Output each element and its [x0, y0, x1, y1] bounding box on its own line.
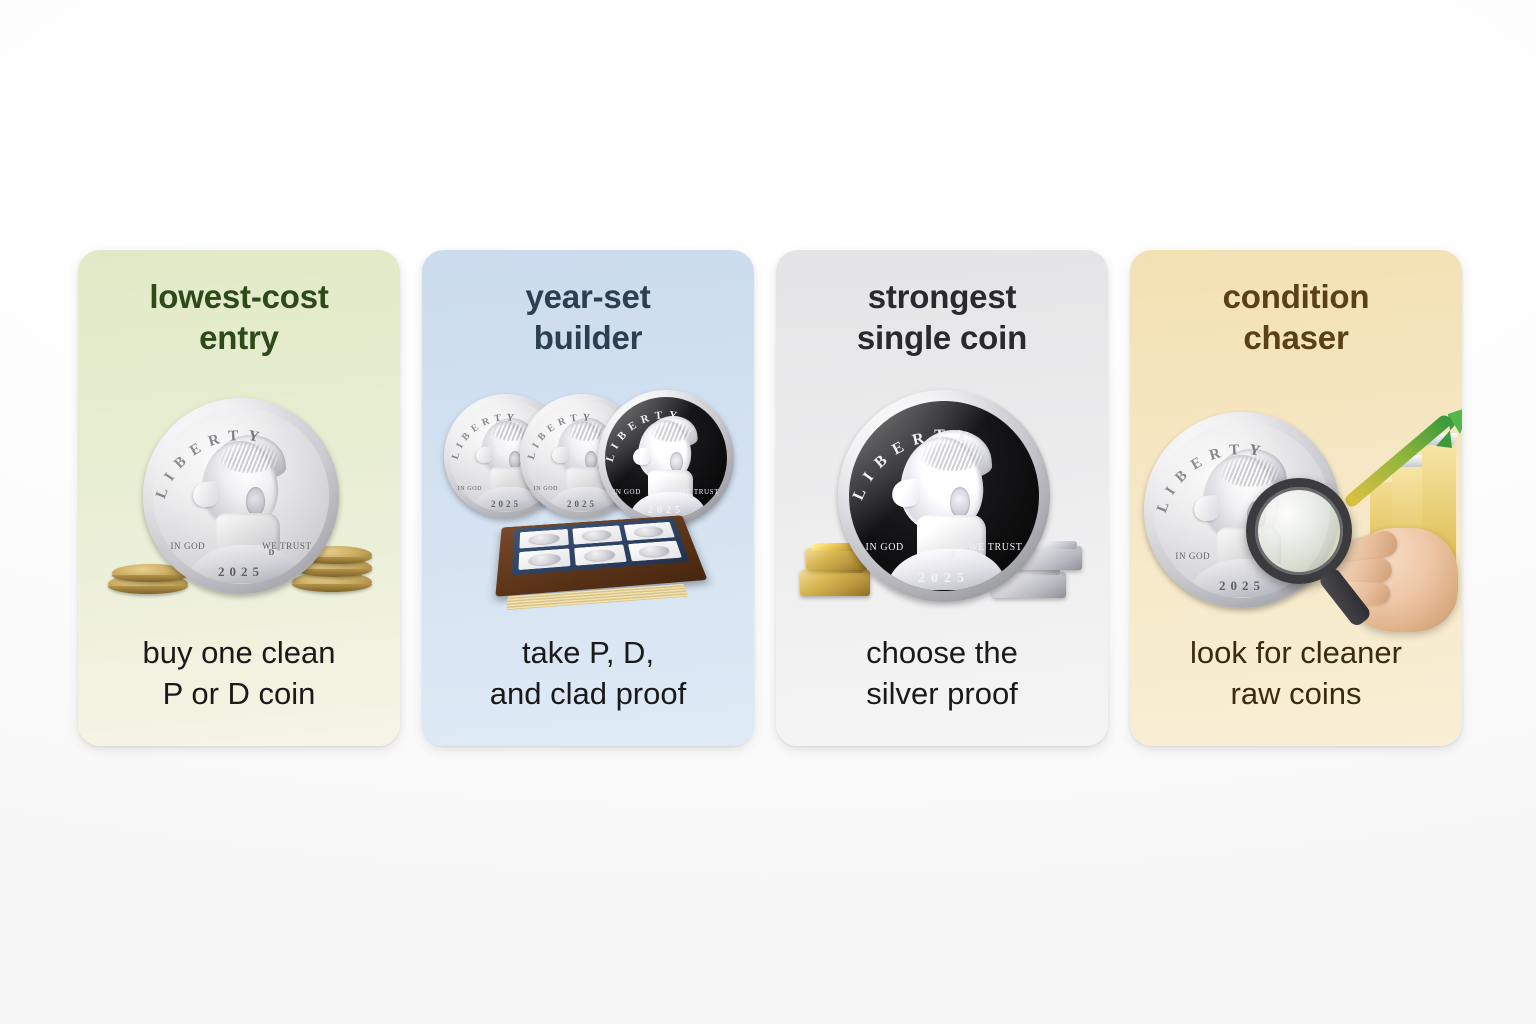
nose-shape: [475, 446, 492, 463]
album-slot: [623, 522, 674, 541]
coin-date: 2025: [838, 571, 1050, 587]
album-slot: [627, 540, 681, 561]
card-illustration: LIBERTY IN GOD WE TRUST D 2025: [78, 386, 400, 636]
card-title: condition chaser: [1146, 276, 1446, 358]
hair-texture: [218, 441, 280, 473]
card-row: lowest-cost entry: [78, 250, 1466, 746]
nose-shape: [891, 479, 920, 508]
card-strongest-single-coin[interactable]: strongest single coin: [776, 250, 1108, 746]
album-slot: [519, 529, 568, 549]
coin-motto: IN GOD WE TRUST: [598, 488, 734, 496]
album-slot: [572, 525, 622, 544]
motto-left: IN GOD: [613, 488, 641, 496]
coin-motto: IN GOD WE TRUST: [143, 541, 339, 551]
kennedy-profile: [624, 414, 710, 514]
coin-album: [500, 504, 696, 600]
card-caption: buy one clean P or D coin: [78, 632, 400, 714]
ear-shape: [950, 487, 970, 518]
motto-left: IN GOD: [1175, 551, 1210, 561]
motto-left: IN GOD: [534, 486, 558, 492]
card-illustration: LIBERTY IN GOD WE TRUST F 2025: [776, 386, 1108, 636]
magnifier-lens: [1246, 478, 1352, 584]
card-caption: look for cleaner raw coins: [1130, 632, 1462, 714]
growth-arrow-icon: [1344, 400, 1462, 510]
card-caption: choose the silver proof: [776, 632, 1108, 714]
magnifier-icon: [1246, 478, 1352, 584]
page-root: lowest-cost entry: [0, 0, 1536, 1024]
motto-right: WE TRUST: [680, 488, 719, 496]
card-lowest-cost-entry[interactable]: lowest-cost entry: [78, 250, 400, 746]
hair-texture: [919, 437, 986, 471]
card-illustration: LIBERTY IN GOD D 2025: [422, 386, 754, 636]
coin-motto: IN GOD WE TRUST: [838, 542, 1050, 553]
silver-proof-half-dollar: LIBERTY IN GOD WE TRUST F 2025: [838, 390, 1050, 602]
album-slot: [518, 548, 570, 570]
coin-field: [153, 408, 329, 584]
motto-left: IN GOD: [170, 541, 205, 551]
nose-shape: [551, 446, 568, 463]
coin-mintmark: F: [951, 550, 957, 560]
motto-left: IN GOD: [458, 486, 482, 492]
card-title: year-set builder: [438, 276, 738, 358]
nose-shape: [1193, 494, 1220, 521]
nose-shape: [192, 480, 219, 507]
card-year-set-builder[interactable]: year-set builder: [422, 250, 754, 746]
nose-shape: [632, 447, 651, 466]
motto-right: WE TRUST: [968, 542, 1022, 553]
coin-mintmark: D: [689, 494, 693, 500]
ear-shape: [670, 452, 683, 472]
coin-date: 2025: [143, 564, 339, 580]
coin-field: [849, 401, 1040, 592]
card-caption: take P, D, and clad proof: [422, 632, 754, 714]
hair-texture: [650, 420, 693, 442]
kennedy-profile: [181, 432, 304, 577]
kennedy-half-dollar-coin: LIBERTY IN GOD WE TRUST D 2025: [143, 398, 339, 594]
card-condition-chaser[interactable]: condition chaser: [1130, 250, 1462, 746]
card-title: lowest-cost entry: [89, 276, 389, 358]
album-slot: [574, 544, 626, 565]
coin-mintmark: D: [269, 548, 275, 557]
kennedy-profile: [879, 427, 1013, 583]
card-illustration: LIBERTY IN GOD D 2025: [1130, 386, 1462, 636]
card-title: strongest single coin: [792, 276, 1092, 358]
coin-field: [605, 397, 727, 519]
motto-left: IN GOD: [866, 542, 904, 553]
